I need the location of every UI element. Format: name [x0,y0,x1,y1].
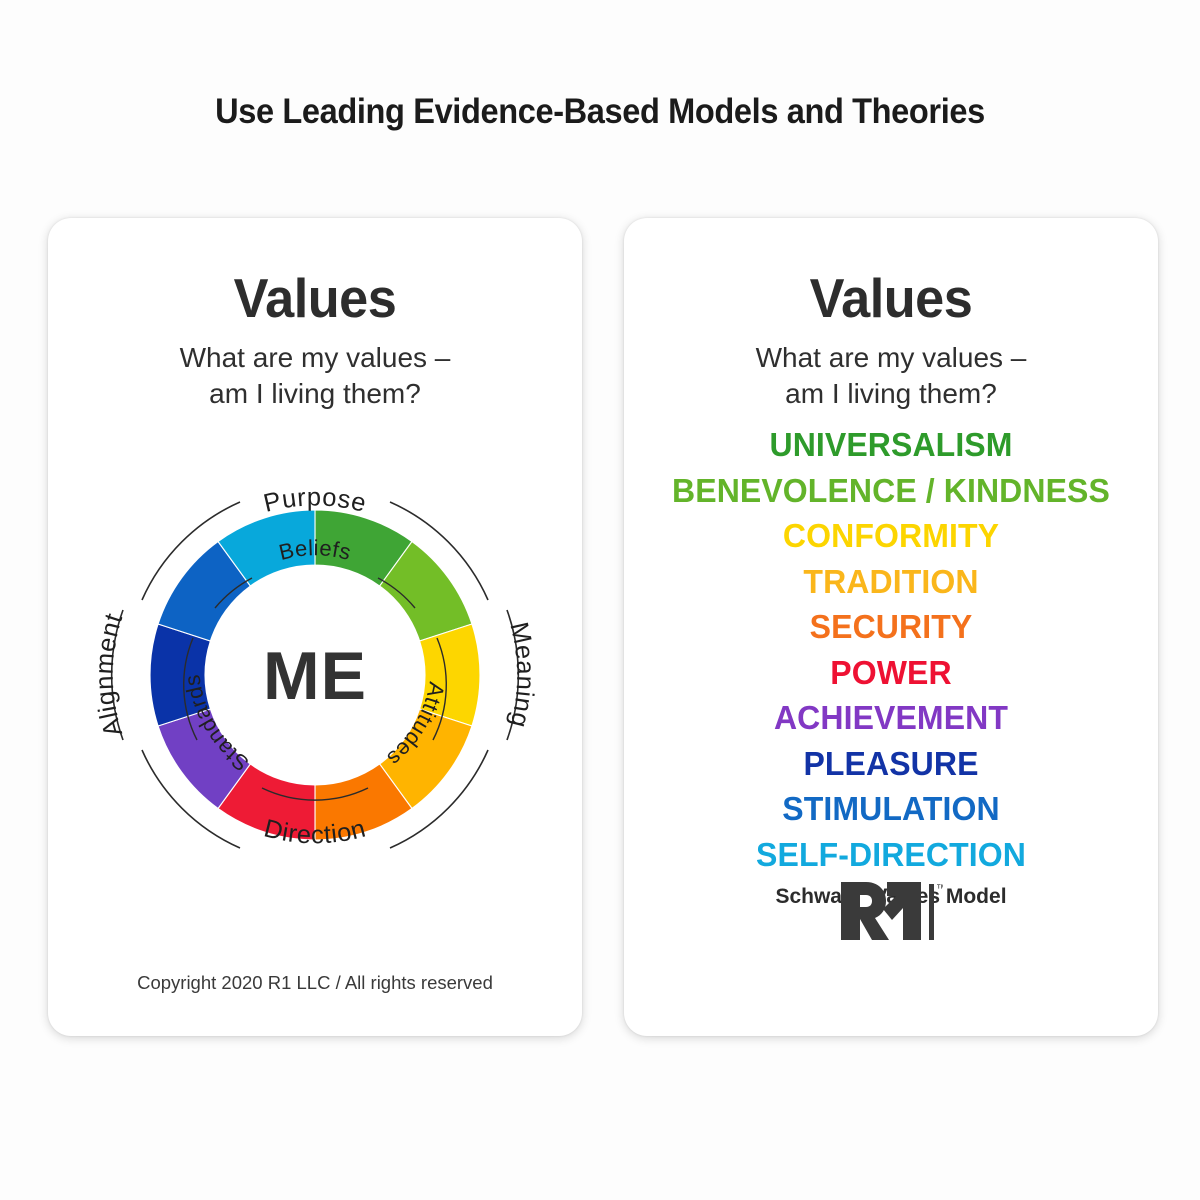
page-root: Use Leading Evidence-Based Models and Th… [0,0,1200,1200]
left-card-subtitle: What are my values – am I living them? [48,340,582,412]
values-wheel: Purpose Meaning Direction Alignment Beli… [80,440,550,910]
right-card-subtitle: What are my values – am I living them? [624,340,1158,412]
right-card-subtitle-line2: am I living them? [624,376,1158,412]
value-item: ACHIEVEMENT [632,695,1150,741]
wheel-segment-yellow [420,624,480,726]
values-items: UNIVERSALISMBENEVOLENCE / KINDNESSCONFOR… [624,422,1158,877]
value-item: PLEASURE [632,741,1150,787]
values-list: UNIVERSALISMBENEVOLENCE / KINDNESSCONFOR… [624,422,1158,909]
wheel-label-meaning: Meaning [504,620,539,731]
wheel-center-label: ME [263,638,367,714]
value-item: UNIVERSALISM [632,422,1150,468]
value-item: TRADITION [632,559,1150,605]
value-item: SELF-DIRECTION [632,832,1150,878]
right-card-title: Values [637,218,1144,330]
trademark-symbol: ™ [936,883,943,895]
values-wheel-svg: Purpose Meaning Direction Alignment Beli… [80,440,550,910]
wheel-label-alignment: Alignment [91,610,129,740]
right-card-subtitle-line1: What are my values – [624,340,1158,376]
r1-logo: ™ [624,878,1158,944]
left-card-subtitle-line2: am I living them? [48,376,582,412]
values-wheel-card: Values What are my values – am I living … [48,218,582,1036]
left-card-subtitle-line1: What are my values – [48,340,582,376]
value-item: CONFORMITY [632,513,1150,559]
page-title: Use Leading Evidence-Based Models and Th… [42,92,1158,132]
value-item: STIMULATION [632,786,1150,832]
schwartz-values-card: Values What are my values – am I living … [624,218,1158,1036]
value-item: POWER [632,650,1150,696]
r1-logo-svg: ™ [839,878,943,944]
wheel-label-meaning-text: Meaning [504,620,539,731]
copyright-text: Copyright 2020 R1 LLC / All rights reser… [48,972,582,994]
left-card-title: Values [61,218,568,330]
wheel-label-alignment-text: Alignment [91,610,129,740]
value-item: SECURITY [632,604,1150,650]
value-item: BENEVOLENCE / KINDNESS [632,468,1150,514]
